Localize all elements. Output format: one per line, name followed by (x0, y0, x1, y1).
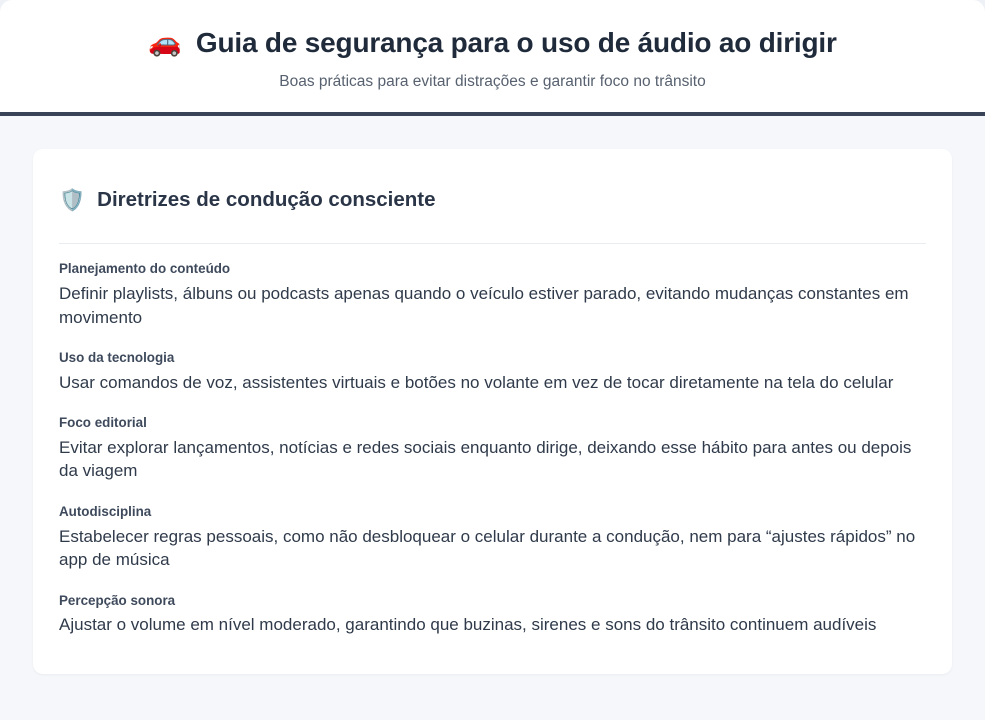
shield-icon: 🛡️ (59, 190, 85, 211)
guideline-text: Usar comandos de voz, assistentes virtua… (59, 371, 926, 394)
page-root: 🚗 Guia de segurança para o uso de áudio … (0, 0, 985, 720)
page-title: Guia de segurança para o uso de áudio ao… (196, 26, 837, 60)
guideline-item: Uso da tecnologia Usar comandos de voz, … (59, 349, 926, 394)
guideline-item: Planejamento do conteúdo Definir playlis… (59, 260, 926, 329)
guideline-text: Ajustar o volume em nível moderado, gara… (59, 613, 926, 636)
guideline-label: Foco editorial (59, 414, 926, 433)
guideline-text: Evitar explorar lançamentos, notícias e … (59, 436, 926, 483)
car-icon: 🚗 (148, 29, 182, 56)
card-divider (59, 243, 926, 244)
title-row: 🚗 Guia de segurança para o uso de áudio … (40, 26, 945, 60)
card-header: 🛡️ Diretrizes de condução consciente (59, 171, 926, 244)
guideline-item: Foco editorial Evitar explorar lançament… (59, 414, 926, 483)
guideline-item: Percepção sonora Ajustar o volume em nív… (59, 592, 926, 637)
guideline-label: Planejamento do conteúdo (59, 260, 926, 279)
page-subtitle: Boas práticas para evitar distrações e g… (40, 72, 945, 92)
page-header: 🚗 Guia de segurança para o uso de áudio … (0, 0, 985, 112)
guideline-text: Definir playlists, álbuns ou podcasts ap… (59, 282, 926, 329)
card-title: Diretrizes de condução consciente (97, 188, 435, 213)
guideline-text: Estabelecer regras pessoais, como não de… (59, 525, 926, 572)
guideline-item: Autodisciplina Estabelecer regras pessoa… (59, 503, 926, 572)
guideline-label: Autodisciplina (59, 503, 926, 522)
guideline-label: Uso da tecnologia (59, 349, 926, 368)
guidelines-card: 🛡️ Diretrizes de condução consciente Pla… (33, 149, 952, 674)
guideline-label: Percepção sonora (59, 592, 926, 611)
main-content: 🛡️ Diretrizes de condução consciente Pla… (0, 116, 985, 706)
